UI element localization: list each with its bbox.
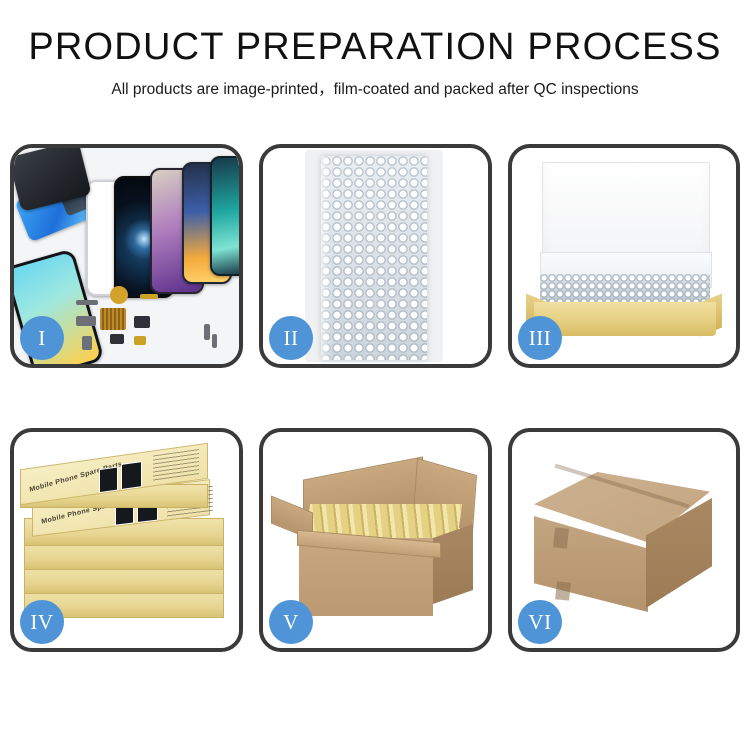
retail-box-screen-image-1a — [99, 466, 118, 493]
step-panel-1: I — [10, 144, 243, 368]
step-badge-5: V — [269, 600, 313, 644]
step-panel-2: II — [259, 144, 492, 368]
part-bracket — [140, 294, 158, 299]
step-badge-4: IV — [20, 600, 64, 644]
part-connector — [76, 300, 98, 305]
phone-teal — [210, 156, 239, 276]
retail-box-side-4 — [24, 566, 224, 594]
page-title: PRODUCT PREPARATION PROCESS — [0, 28, 750, 68]
part-sim-tray — [82, 336, 92, 350]
part-vibrator — [110, 334, 124, 344]
step-badge-1: I — [20, 316, 64, 360]
step-panel-5: V — [259, 428, 492, 652]
part-screw-set — [204, 324, 210, 340]
page-header: PRODUCT PREPARATION PROCESS All products… — [0, 0, 750, 99]
part-camera-module — [134, 316, 150, 328]
step-badge-3: III — [518, 316, 562, 360]
step-panel-4: Mobile Phone Spare Parts Mobile Phone Sp… — [10, 428, 243, 652]
retail-box-screen-image-1b — [121, 461, 142, 490]
bubble-wrap-sheet — [321, 156, 427, 360]
sealed-carton-tape-patch-upper — [553, 527, 569, 548]
part-speaker-coil — [110, 286, 128, 304]
step-panel-6: VI — [508, 428, 740, 652]
part-chip-array — [100, 308, 126, 330]
inner-box-front-panel — [534, 302, 716, 336]
part-gold-contact — [134, 336, 146, 345]
step-panel-3: III — [508, 144, 740, 368]
retail-box-spec-lines-1 — [153, 449, 199, 481]
page-subtitle: All products are image-printed，film-coat… — [0, 77, 750, 99]
part-flex-cable — [76, 316, 96, 326]
retail-box-side-3 — [24, 542, 224, 570]
step-badge-2: II — [269, 316, 313, 360]
sealed-carton-tape-patch-lower — [555, 581, 571, 600]
part-screwdriver-tip — [212, 334, 217, 348]
carton-side-panel — [433, 524, 473, 604]
process-steps-grid: I II III — [10, 144, 740, 652]
step-badge-6: VI — [518, 600, 562, 644]
